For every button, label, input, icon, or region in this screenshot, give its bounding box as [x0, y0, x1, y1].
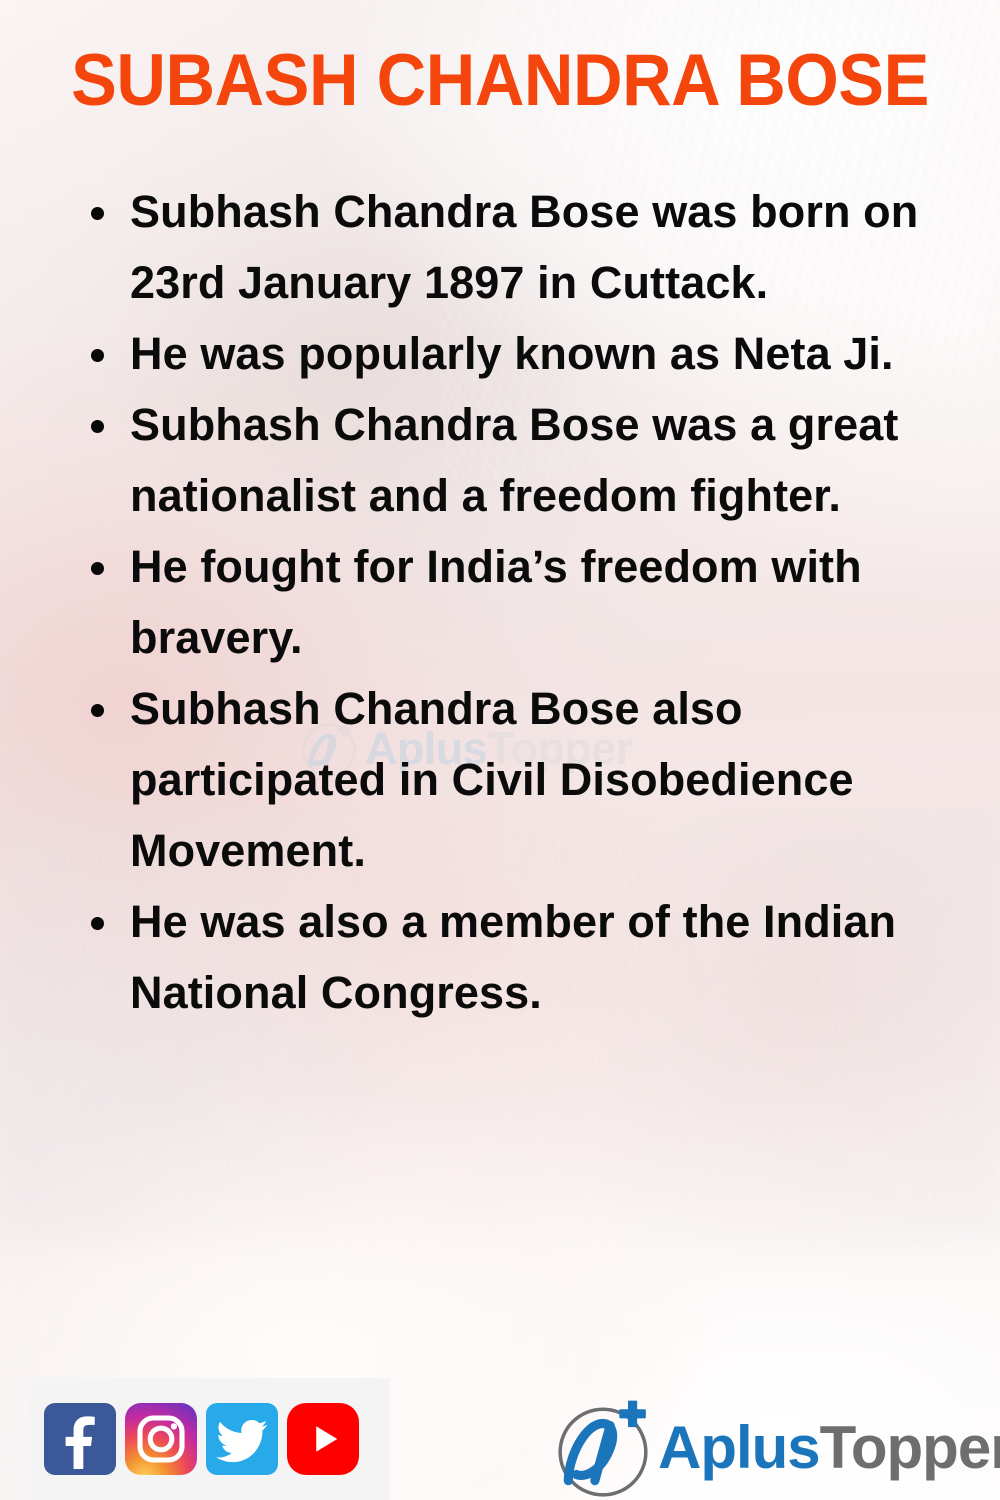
- list-item: He was popularly known as Neta Ji.: [82, 318, 962, 389]
- list-item: Subhash Chandra Bose was born on 23rd Ja…: [82, 176, 962, 318]
- brand-logo[interactable]: AplusTopper: [552, 1396, 1000, 1500]
- youtube-icon[interactable]: [287, 1403, 359, 1475]
- aplus-circle-icon: [552, 1397, 654, 1499]
- list-item: Subhash Chandra Bose also participated i…: [82, 673, 962, 886]
- instagram-icon[interactable]: [125, 1403, 197, 1475]
- twitter-icon[interactable]: [206, 1403, 278, 1475]
- poster-canvas: SUBASH CHANDRA BOSE AplusTopper Subhash …: [0, 0, 1000, 1500]
- brand-text-secondary: Topper: [820, 1414, 1000, 1481]
- fact-list: Subhash Chandra Bose was born on 23rd Ja…: [82, 176, 962, 1028]
- list-item: He fought for India’s freedom with brave…: [82, 531, 962, 673]
- list-item: Subhash Chandra Bose was a great nationa…: [82, 389, 962, 531]
- facebook-icon[interactable]: [44, 1403, 116, 1475]
- brand-text: AplusTopper: [658, 1418, 1000, 1478]
- page-title: SUBASH CHANDRA BOSE: [30, 44, 970, 117]
- social-links-bar: [28, 1378, 390, 1500]
- list-item: He was also a member of the Indian Natio…: [82, 886, 962, 1028]
- brand-text-primary: Aplus: [658, 1414, 820, 1481]
